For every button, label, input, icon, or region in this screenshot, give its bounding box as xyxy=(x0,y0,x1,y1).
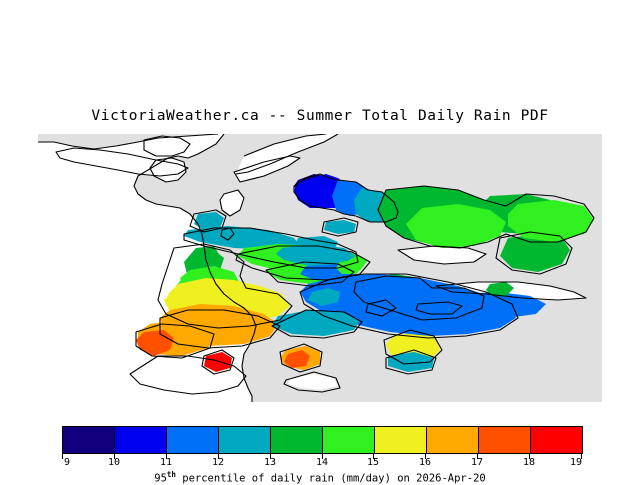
page-title: VictoriaWeather.ca -- Summer Total Daily… xyxy=(0,108,640,124)
colorbar-ticklabel-9: 9 xyxy=(64,457,70,468)
colorbar-ticklabel-17: 17 xyxy=(471,457,483,468)
map-plot-area xyxy=(38,134,602,402)
colorbar-segment-8 xyxy=(426,427,478,453)
colorbar-ticklabel-13: 13 xyxy=(264,457,276,468)
colorbar-caption: 95th percentile of daily rain (mm/day) o… xyxy=(0,470,640,485)
colorbar-ticklabel-15: 15 xyxy=(367,457,379,468)
colorbar-segment-7 xyxy=(374,427,426,453)
colorbar-tick-9 xyxy=(62,454,63,459)
colorbar-ticklabel-14: 14 xyxy=(316,457,328,468)
colorbar-swatches xyxy=(62,426,583,454)
colorbar-ticklabel-16: 16 xyxy=(419,457,431,468)
colorbar-ticklabel-19: 19 xyxy=(570,457,582,468)
caption-text: percentile of daily rain (mm/day) on 202… xyxy=(176,473,486,485)
colorbar-segment-4 xyxy=(218,427,270,453)
caption-percentile-suffix: th xyxy=(167,470,176,479)
colorbar-ticklabel-11: 11 xyxy=(160,457,172,468)
colorbar-segment-10 xyxy=(530,427,582,453)
colorbar-ticks: 910111213141516171819 xyxy=(62,454,583,470)
caption-percentile-number: 95 xyxy=(154,473,167,485)
map-svg xyxy=(38,134,602,402)
colorbar-segment-9 xyxy=(478,427,530,453)
colorbar-segment-3 xyxy=(166,427,218,453)
colorbar: 910111213141516171819 95th percentile of… xyxy=(0,418,640,480)
colorbar-segment-5 xyxy=(270,427,322,453)
colorbar-segment-6 xyxy=(322,427,374,453)
colorbar-segment-2 xyxy=(114,427,166,453)
colorbar-ticklabel-18: 18 xyxy=(523,457,535,468)
colorbar-ticklabel-12: 12 xyxy=(212,457,224,468)
weather-map-page: VictoriaWeather.ca -- Summer Total Daily… xyxy=(0,0,640,480)
colorbar-segment-1 xyxy=(63,427,114,453)
colorbar-ticklabel-10: 10 xyxy=(108,457,120,468)
